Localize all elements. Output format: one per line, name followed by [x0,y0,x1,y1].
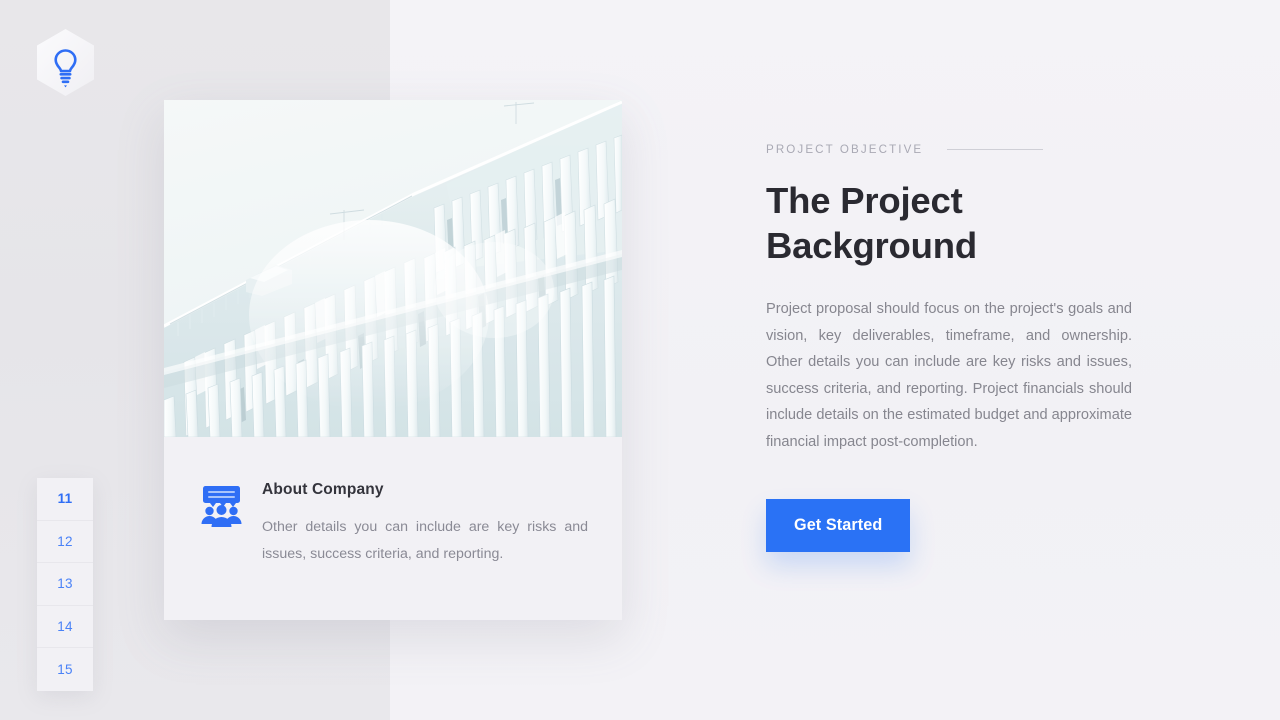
get-started-button[interactable]: Get Started [766,499,910,552]
content-column: PROJECT OBJECTIVE The Project Background… [766,143,1132,552]
pager-item-label: 12 [57,534,72,549]
pager-item-12[interactable]: 12 [37,521,93,564]
pager-item-label: 14 [57,619,72,634]
pager-item-label: 11 [58,491,73,506]
body-paragraph: Project proposal should focus on the pro… [766,296,1132,456]
pager-item-label: 15 [57,662,72,677]
feature-card: About Company Other details you can incl… [164,100,622,620]
card-title: About Company [262,481,588,499]
logo-hexagon[interactable] [36,28,95,97]
eyebrow-row: PROJECT OBJECTIVE [766,143,1132,156]
slide-canvas: 11 12 13 14 15 [0,0,1280,720]
eyebrow-label: PROJECT OBJECTIVE [766,143,923,156]
presentation-audience-icon [198,481,245,567]
headline-line-1: The Project [766,180,963,221]
architecture-photo [164,100,622,437]
card-description: Other details you can include are key ri… [262,514,588,567]
pager-item-11[interactable]: 11 [37,478,93,521]
pager-item-label: 13 [57,576,72,591]
pager-item-14[interactable]: 14 [37,606,93,649]
headline-line-2: Background [766,225,977,266]
page-title: The Project Background [766,178,1132,268]
pager-item-15[interactable]: 15 [37,648,93,691]
pager-item-13[interactable]: 13 [37,563,93,606]
card-body: About Company Other details you can incl… [164,437,622,567]
slide-pager[interactable]: 11 12 13 14 15 [37,478,93,691]
eyebrow-divider [947,149,1043,150]
